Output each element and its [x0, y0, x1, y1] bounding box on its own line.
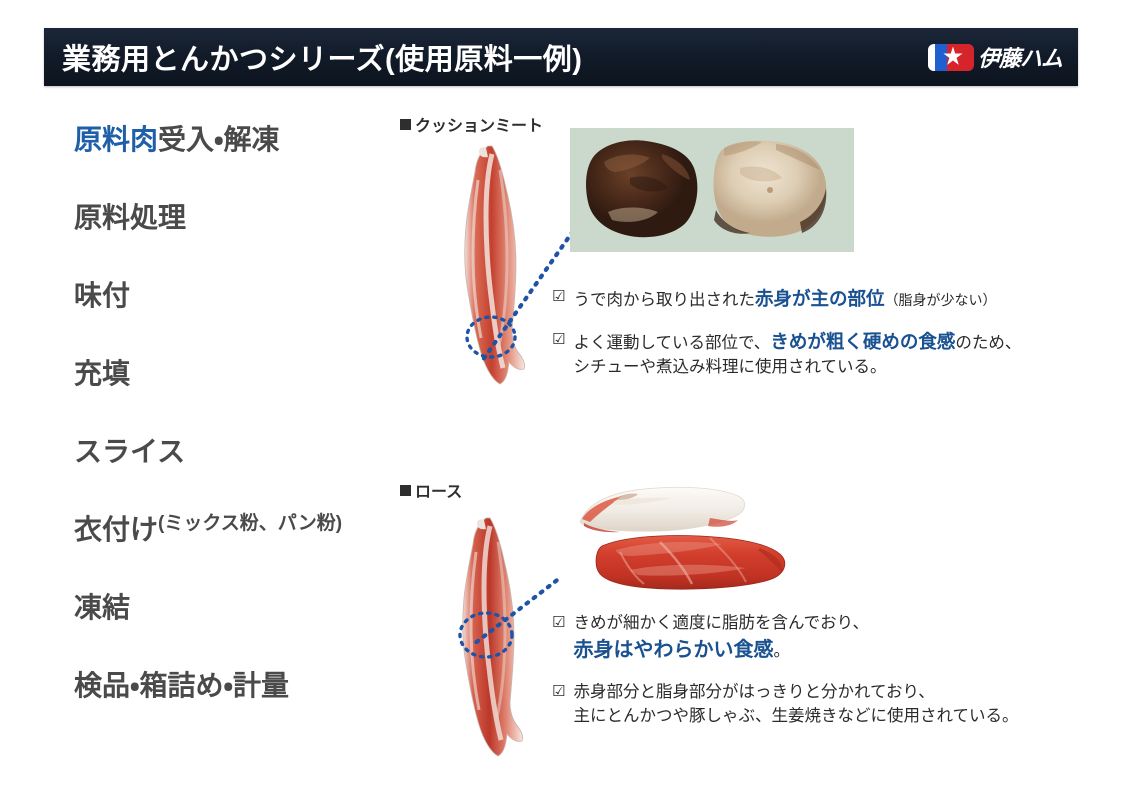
- square-bullet-icon: [400, 485, 411, 496]
- process-step-3-label: 味付: [74, 274, 130, 314]
- product-photo-cushion-meat: [570, 128, 854, 252]
- checkbox-checked-icon: ☑: [552, 683, 565, 701]
- bullet-text-strong: きめが粗く硬めの食感: [770, 331, 955, 352]
- bullet-item: ☑ 赤身部分と脂身部分がはっきりと分かれており、主にとんかつや豚しゃぶ、生姜焼き…: [552, 681, 1112, 729]
- process-step-2: 原料処理: [74, 196, 384, 274]
- company-logo: 伊藤ハム: [928, 42, 1062, 72]
- bullet-list-loin: ☑ きめが細かく適度に脂肪を含んでおり、赤身はやわらかい食感。 ☑ 赤身部分と脂…: [552, 612, 1112, 745]
- process-step-6: 衣付け(ミックス粉、パン粉): [74, 508, 384, 586]
- bullet-text-strong: 赤身が主の部位: [755, 288, 885, 309]
- process-step-1: 原料肉受入・解凍: [74, 118, 384, 196]
- itoham-logo-mark-icon: [928, 44, 974, 71]
- bullet-text-post: （脂身が少ない）: [884, 292, 996, 308]
- process-step-4-label: 充填: [74, 352, 130, 392]
- bullet-text-pre: 赤身部分と脂身部分がはっきりと分かれており、: [573, 683, 934, 701]
- bullet-text: うで肉から取り出された赤身が主の部位（脂身が少ない）: [573, 286, 996, 313]
- process-step-6-label: 衣付け: [74, 508, 158, 548]
- process-step-7: 凍結: [74, 586, 384, 664]
- bullet-text-line2: 主にとんかつや豚しゃぶ、生姜焼きなどに使用されている。: [573, 705, 1018, 729]
- bullet-text: よく運動している部位で、きめが粗く硬めの食感のため、シチューや煮込み料理に使用さ…: [573, 329, 1021, 380]
- bullet-text-line2: 赤身はやわらかい食感。: [573, 636, 869, 665]
- square-bullet-icon: [400, 119, 411, 130]
- bullet-text-pre: うで肉から取り出された: [573, 291, 755, 309]
- process-step-8: 検品・箱詰め・計量: [74, 664, 384, 742]
- page-title: 業務用とんかつシリーズ(使用原料一例): [62, 36, 582, 78]
- pig-carcass-illustration-loin: [440, 512, 558, 762]
- bullet-item: ☑ よく運動している部位で、きめが粗く硬めの食感のため、シチューや煮込み料理に使…: [552, 329, 1112, 380]
- bullet-text-strong: 赤身はやわらかい食感: [573, 639, 773, 661]
- section-header-cushion-meat-label: クッションミート: [415, 112, 543, 136]
- product-photo-loin: [560, 478, 830, 596]
- slide-title-bar: 業務用とんかつシリーズ(使用原料一例) 伊藤ハム: [44, 28, 1078, 86]
- process-flow-list: 原料肉受入・解凍 原料処理 味付 充填 スライス 衣付け(ミックス粉、パン粉) …: [74, 118, 384, 742]
- process-step-6-sublabel: (ミックス粉、パン粉): [158, 508, 342, 535]
- process-step-2-label: 原料処理: [74, 196, 186, 236]
- logo-text: 伊藤ハム: [978, 41, 1062, 73]
- bullet-item: ☑ うで肉から取り出された赤身が主の部位（脂身が少ない）: [552, 286, 1112, 313]
- process-step-8-label: 検品・箱詰め・計量: [74, 664, 289, 704]
- process-step-1-label: 受入・解凍: [158, 118, 280, 158]
- bullet-text: 赤身部分と脂身部分がはっきりと分かれており、主にとんかつや豚しゃぶ、生姜焼きなど…: [573, 681, 1018, 729]
- pig-carcass-illustration-cushion: [442, 140, 560, 390]
- process-step-3: 味付: [74, 274, 384, 352]
- section-header-loin-label: ロース: [415, 478, 462, 502]
- process-step-5-label: スライス: [74, 430, 185, 470]
- checkbox-checked-icon: ☑: [552, 614, 565, 632]
- bullet-text-pre: よく運動している部位で、: [573, 334, 770, 352]
- bullet-item: ☑ きめが細かく適度に脂肪を含んでおり、赤身はやわらかい食感。: [552, 612, 1112, 665]
- process-step-5: スライス: [74, 430, 384, 508]
- checkbox-checked-icon: ☑: [552, 331, 565, 349]
- bullet-list-cushion-meat: ☑ うで肉から取り出された赤身が主の部位（脂身が少ない） ☑ よく運動している部…: [552, 286, 1112, 396]
- process-step-1-highlight: 原料肉: [74, 118, 158, 158]
- checkbox-checked-icon: ☑: [552, 288, 565, 306]
- bullet-text: きめが細かく適度に脂肪を含んでおり、赤身はやわらかい食感。: [573, 612, 869, 665]
- bullet-text-pre: きめが細かく適度に脂肪を含んでおり、: [573, 614, 869, 632]
- process-step-7-label: 凍結: [74, 586, 130, 626]
- bullet-text-post: 。: [773, 642, 790, 660]
- process-step-4: 充填: [74, 352, 384, 430]
- bullet-text-line2: シチューや煮込み料理に使用されている。: [573, 356, 1021, 380]
- bullet-text-post: のため、: [955, 334, 1021, 352]
